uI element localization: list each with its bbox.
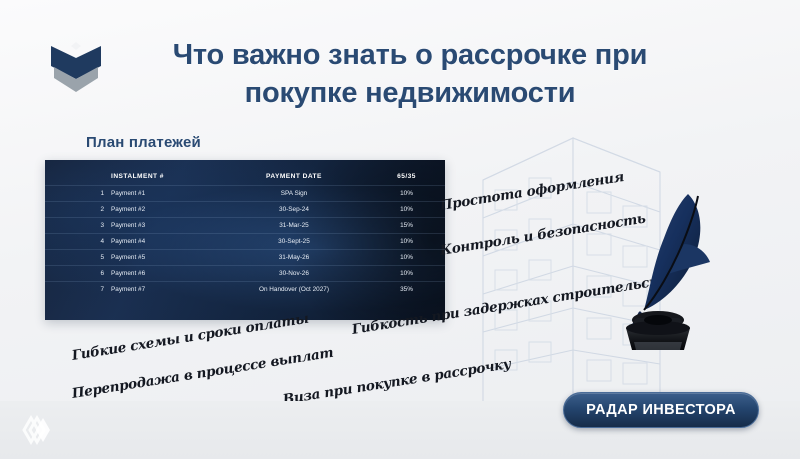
cta-radar-investora-button[interactable]: РАДАР ИНВЕСТОРА xyxy=(563,392,759,428)
row-percent: 35% xyxy=(368,282,445,298)
table-row: 4Payment #430-Sept-2510% xyxy=(45,234,445,250)
table-row: 6Payment #630-Nov-2610% xyxy=(45,266,445,282)
row-payment-date: 30-Nov-26 xyxy=(220,266,368,282)
cta-label: РАДАР ИНВЕСТОРА xyxy=(586,402,736,418)
page-title-line2: покупке недвижимости xyxy=(140,74,680,112)
payment-plan-table: INSTALMENT # PAYMENT DATE 65/35 1Payment… xyxy=(45,168,445,297)
row-payment-date: SPA Sign xyxy=(220,186,368,202)
col-header-payment-date: PAYMENT DATE xyxy=(220,168,368,186)
row-instalment: Payment #6 xyxy=(111,266,220,282)
table-row: 5Payment #531-May-2610% xyxy=(45,250,445,266)
row-instalment: Payment #5 xyxy=(111,250,220,266)
page-title: Что важно знать о рассрочке при покупке … xyxy=(140,36,680,113)
table-row: 7Payment #7On Handover (Oct 2027)35% xyxy=(45,282,445,298)
row-percent: 10% xyxy=(368,186,445,202)
slide-canvas: Что важно знать о рассрочке при покупке … xyxy=(0,0,800,459)
row-percent: 10% xyxy=(368,250,445,266)
feather-quill-inkwell-icon xyxy=(610,182,730,352)
row-index: 4 xyxy=(45,234,111,250)
table-row: 3Payment #331-Mar-2515% xyxy=(45,218,445,234)
col-header-index xyxy=(45,168,111,186)
row-percent: 15% xyxy=(368,218,445,234)
col-header-ratio: 65/35 xyxy=(368,168,445,186)
col-header-instalment: INSTALMENT # xyxy=(111,168,220,186)
section-label-payment-plan: План платежей xyxy=(86,134,201,151)
table-head: INSTALMENT # PAYMENT DATE 65/35 xyxy=(45,168,445,186)
table-row: 2Payment #230-Sep-2410% xyxy=(45,202,445,218)
row-percent: 10% xyxy=(368,202,445,218)
row-instalment: Payment #7 xyxy=(111,282,220,298)
row-percent: 10% xyxy=(368,234,445,250)
table-header-row: INSTALMENT # PAYMENT DATE 65/35 xyxy=(45,168,445,186)
row-payment-date: 31-May-26 xyxy=(220,250,368,266)
row-payment-date: On Handover (Oct 2027) xyxy=(220,282,368,298)
row-percent: 10% xyxy=(368,266,445,282)
row-index: 2 xyxy=(45,202,111,218)
row-payment-date: 30-Sept-25 xyxy=(220,234,368,250)
row-index: 5 xyxy=(45,250,111,266)
row-index: 7 xyxy=(45,282,111,298)
table-row: 1Payment #1SPA Sign10% xyxy=(45,186,445,202)
diamond-watermark-icon xyxy=(14,409,56,451)
payment-plan-card: INSTALMENT # PAYMENT DATE 65/35 1Payment… xyxy=(45,160,445,320)
double-chevron-logo-icon xyxy=(45,36,107,98)
row-index: 1 xyxy=(45,186,111,202)
row-instalment: Payment #2 xyxy=(111,202,220,218)
row-instalment: Payment #4 xyxy=(111,234,220,250)
page-title-line1: Что важно знать о рассрочке при xyxy=(140,36,680,74)
row-index: 6 xyxy=(45,266,111,282)
row-instalment: Payment #1 xyxy=(111,186,220,202)
row-instalment: Payment #3 xyxy=(111,218,220,234)
row-index: 3 xyxy=(45,218,111,234)
row-payment-date: 30-Sep-24 xyxy=(220,202,368,218)
table-body: 1Payment #1SPA Sign10%2Payment #230-Sep-… xyxy=(45,186,445,298)
row-payment-date: 31-Mar-25 xyxy=(220,218,368,234)
